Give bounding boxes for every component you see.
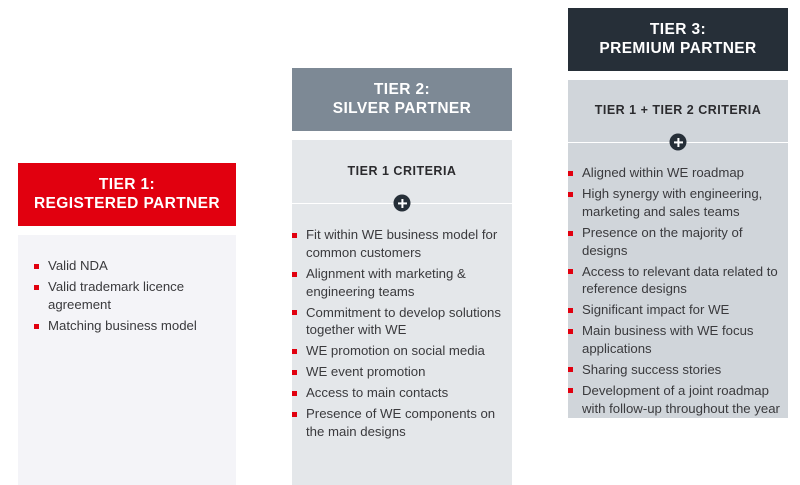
- tier2-criteria-caption: TIER 1 CRITERIA: [292, 156, 512, 178]
- list-item: Alignment with marketing & engineering t…: [292, 265, 512, 300]
- tier1-body-panel: Valid NDA Valid trademark licence agreem…: [18, 235, 236, 485]
- tier-column-tier1: TIER 1: REGISTERED PARTNER Valid NDA Val…: [18, 163, 236, 485]
- list-item: Valid NDA: [34, 257, 220, 275]
- tier-column-tier2: TIER 2: SILVER PARTNER TIER 1 CRITERIA F…: [292, 68, 512, 485]
- list-item: Aligned within WE roadmap: [568, 164, 788, 182]
- list-item: Presence of WE components on the main de…: [292, 405, 512, 440]
- list-item: Development of a joint roadmap with foll…: [568, 382, 788, 417]
- tier2-header-line1: TIER 2:: [298, 80, 506, 99]
- tier1-header-banner: TIER 1: REGISTERED PARTNER: [18, 163, 236, 226]
- list-item: Sharing success stories: [568, 361, 788, 379]
- tier3-header-banner: TIER 3: PREMIUM PARTNER: [568, 8, 788, 71]
- tier3-header-line2: PREMIUM PARTNER: [574, 39, 782, 58]
- tier2-criteria-list: Fit within WE business model for common …: [292, 226, 512, 440]
- plus-icon: [394, 195, 411, 212]
- tier3-plus-divider: [568, 127, 788, 157]
- tier3-criteria-caption: TIER 1 + TIER 2 CRITERIA: [568, 95, 788, 117]
- tier2-plus-divider: [292, 188, 512, 218]
- list-item: High synergy with engineering, marketing…: [568, 185, 788, 220]
- list-item: WE event promotion: [292, 363, 512, 381]
- tier3-body-panel: TIER 1 + TIER 2 CRITERIA Aligned within …: [568, 80, 788, 418]
- list-item: Access to main contacts: [292, 384, 512, 402]
- list-item: Matching business model: [34, 317, 220, 335]
- plus-icon: [670, 134, 687, 151]
- tier3-header-line1: TIER 3:: [574, 20, 782, 39]
- list-item: Significant impact for WE: [568, 301, 788, 319]
- tier-column-tier3: TIER 3: PREMIUM PARTNER TIER 1 + TIER 2 …: [568, 8, 788, 418]
- tier1-header-line2: REGISTERED PARTNER: [24, 194, 230, 213]
- tier2-body-panel: TIER 1 CRITERIA Fit within WE business m…: [292, 140, 512, 485]
- list-item: Presence on the majority of designs: [568, 224, 788, 259]
- list-item: Fit within WE business model for common …: [292, 226, 512, 261]
- tier3-criteria-list: Aligned within WE roadmap High synergy w…: [568, 164, 788, 417]
- tier1-criteria-list: Valid NDA Valid trademark licence agreem…: [34, 257, 220, 334]
- list-item: WE promotion on social media: [292, 342, 512, 360]
- tier-criteria-graphic: TIER 1: REGISTERED PARTNER Valid NDA Val…: [0, 0, 800, 430]
- list-item: Commitment to develop solutions together…: [292, 304, 512, 339]
- list-item: Access to relevant data related to refer…: [568, 263, 788, 298]
- list-item: Valid trademark licence agreement: [34, 278, 220, 313]
- tier1-header-line1: TIER 1:: [24, 175, 230, 194]
- list-item: Main business with WE focus applications: [568, 322, 788, 357]
- tier2-header-line2: SILVER PARTNER: [298, 99, 506, 118]
- tier2-header-banner: TIER 2: SILVER PARTNER: [292, 68, 512, 131]
